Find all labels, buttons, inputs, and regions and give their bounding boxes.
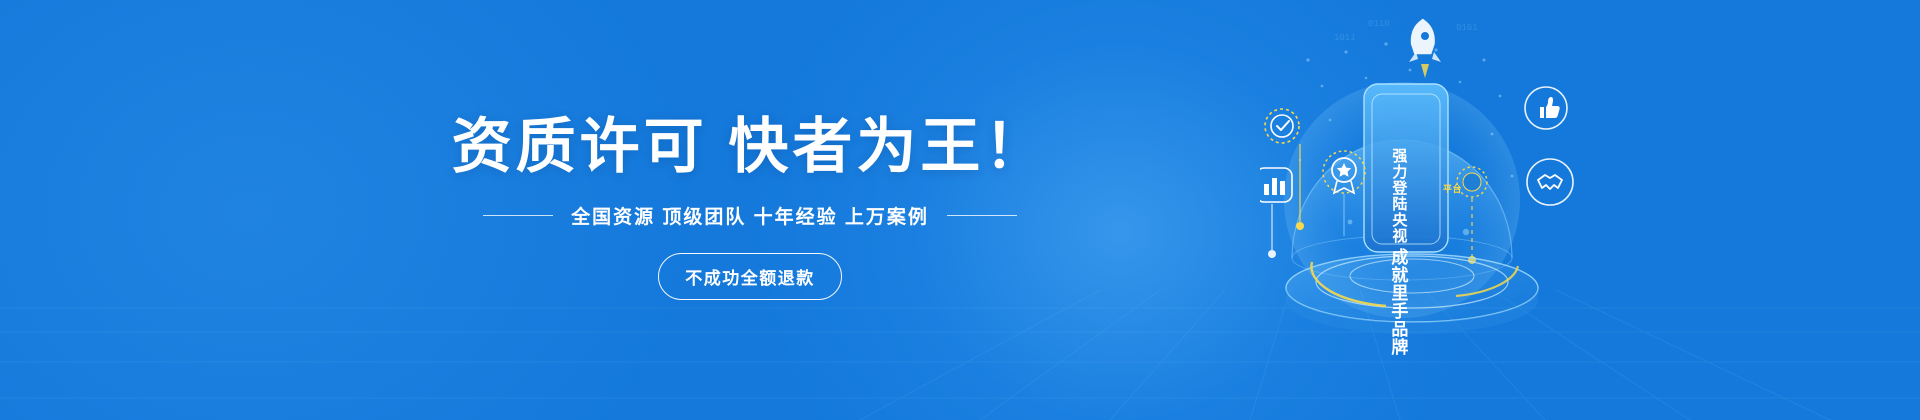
refund-guarantee-button[interactable]: 不成功全额退款 [658, 253, 842, 300]
page-title: 资质许可 快者为王！ [452, 112, 1049, 183]
subtitle-row: 全国资源 顶级团队 十年经验 上万案例 [483, 202, 1017, 229]
banner-subtitle: 全国资源 顶级团队 十年经验 上万案例 [571, 202, 929, 229]
thumbs-up-icon [1525, 87, 1567, 129]
handshake-icon [1527, 159, 1573, 205]
banner-copy: 资质许可 快者为王！ 全国资源 顶级团队 十年经验 上万案例 不成功全额退款 [0, 0, 1500, 420]
phone-text-secondary: 强力登陆央视 [1388, 148, 1406, 244]
hero-banner: 资质许可 快者为王！ 全国资源 顶级团队 十年经验 上万案例 不成功全额退款 [0, 0, 1920, 420]
divider-left [483, 215, 553, 216]
platform-badge-label: 平台 [1443, 182, 1462, 195]
divider-right [947, 215, 1017, 216]
phone-screen-text: 成就里手品牌 强力登陆央视 [1388, 148, 1406, 356]
phone-text-main: 成就里手品牌 [1388, 248, 1406, 356]
